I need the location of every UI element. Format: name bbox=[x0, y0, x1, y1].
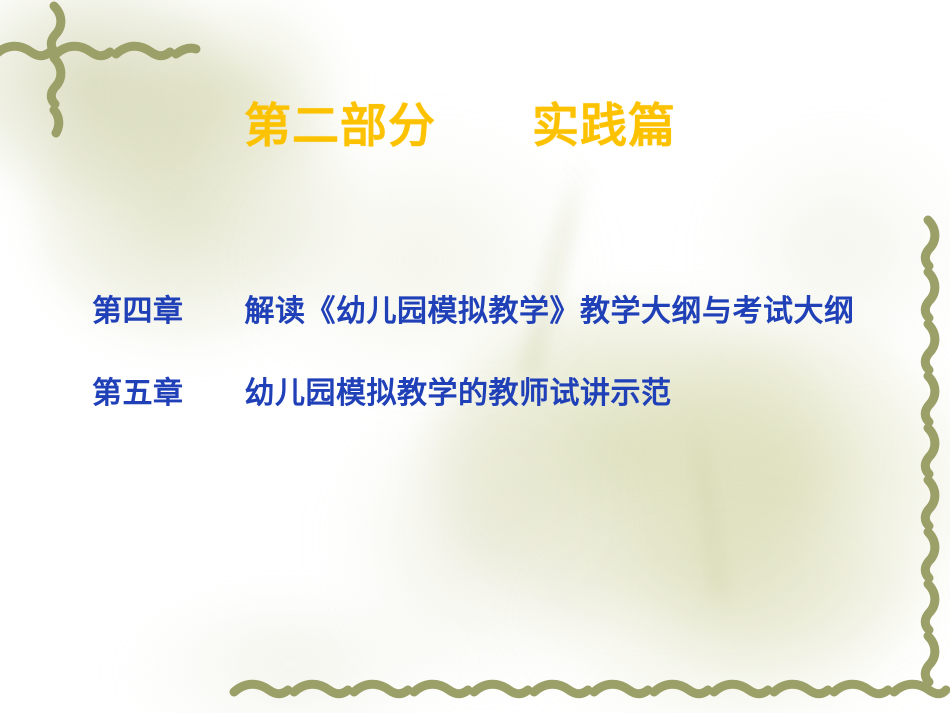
page-title: 第二部分 实践篇 bbox=[244, 100, 676, 155]
vine-top-horizontal-icon bbox=[0, 28, 204, 68]
chapter-item-5[interactable]: 第五章 幼儿园模拟教学的教师试讲示范 bbox=[92, 379, 932, 409]
vine-top-vertical-icon bbox=[38, 0, 78, 140]
watermark-flower-center-3 bbox=[330, 400, 630, 700]
watermark-stem-lower bbox=[686, 400, 728, 600]
presentation-slide: 第二部分 实践篇 第四章 解读《幼儿园模拟教学》教学大纲与考试大纲 第五章 幼儿… bbox=[0, 0, 950, 713]
vine-bottom-horizontal-icon bbox=[230, 666, 950, 712]
chapter-item-4[interactable]: 第四章 解读《幼儿园模拟教学》教学大纲与考试大纲 bbox=[92, 297, 932, 327]
vine-right-vertical-icon bbox=[912, 214, 950, 694]
watermark-flower-top-left-1 bbox=[0, 0, 230, 210]
watermark-flower-bottom bbox=[520, 520, 940, 713]
chapter-list: 第四章 解读《幼儿园模拟教学》教学大纲与考试大纲 第五章 幼儿园模拟教学的教师试… bbox=[92, 297, 932, 409]
watermark-flower-bottom-left bbox=[120, 600, 460, 713]
